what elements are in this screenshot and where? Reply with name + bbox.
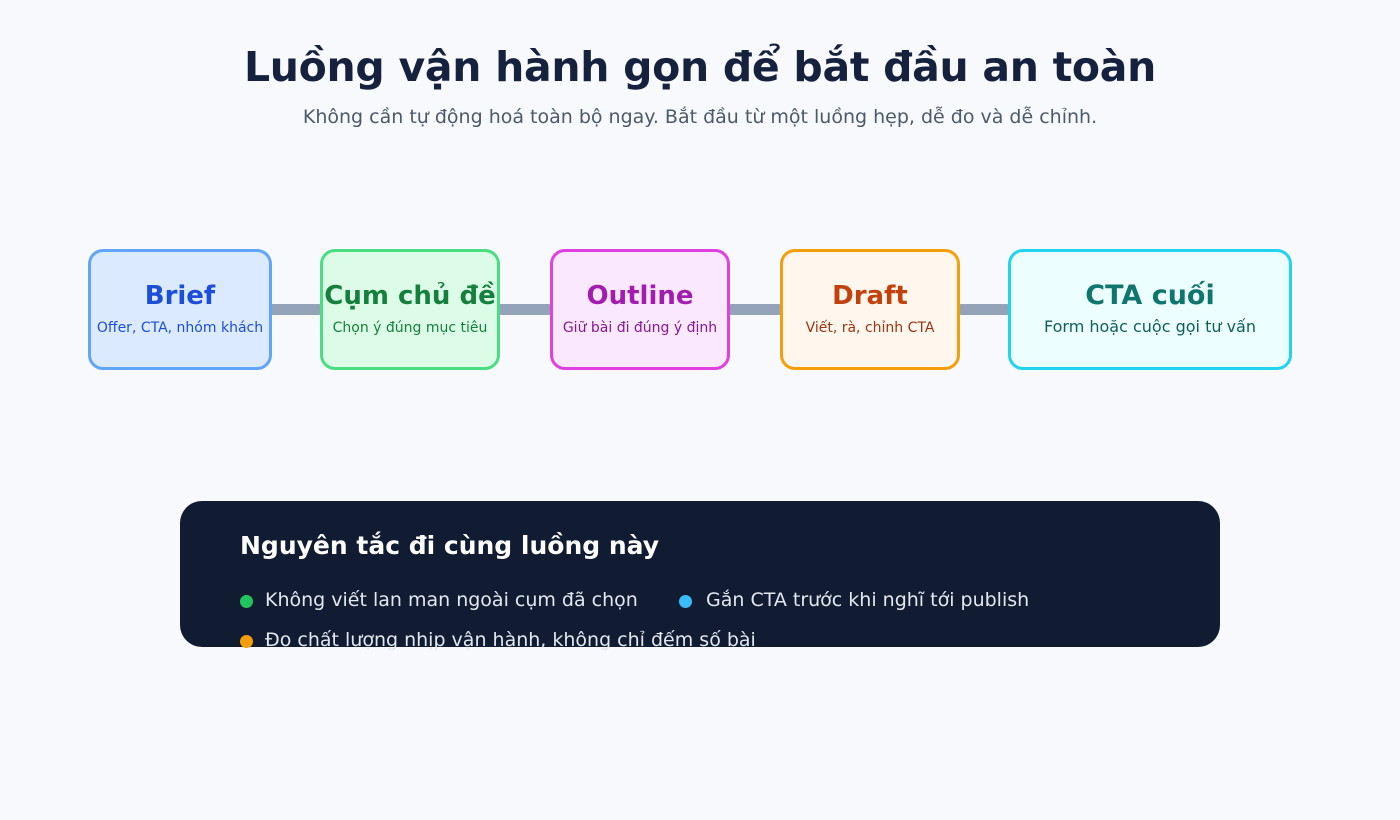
flow-connector <box>266 304 324 315</box>
page-subtitle: Không cần tự động hoá toàn bộ ngay. Bắt … <box>0 91 1400 130</box>
principle-text: Không viết lan man ngoài cụm đã chọn <box>265 589 638 613</box>
principles-list: Không viết lan man ngoài cụm đã chọn Gắn… <box>240 561 1160 661</box>
principles-title: Nguyên tắc đi cùng luồng này <box>240 531 1160 561</box>
flow-step-title: Brief <box>145 282 216 311</box>
bullet-dot-icon <box>679 595 692 608</box>
flow-connector <box>956 304 1012 315</box>
list-item: Không viết lan man ngoài cụm đã chọn <box>240 581 687 621</box>
flow-step-title: CTA cuối <box>1085 281 1214 311</box>
bullet-dot-icon <box>240 595 253 608</box>
flow-connector <box>726 304 784 315</box>
bullet-dot-icon <box>240 635 253 648</box>
principle-text: Gắn CTA trước khi nghĩ tới publish <box>706 589 1029 613</box>
flow-step-outline[interactable]: Outline Giữ bài đi đúng ý định <box>550 249 730 370</box>
flow-connector <box>496 304 554 315</box>
page-title: Luồng vận hành gọn để bắt đầu an toàn <box>0 44 1400 91</box>
list-item: Gắn CTA trước khi nghĩ tới publish <box>687 581 1134 621</box>
page-header: Luồng vận hành gọn để bắt đầu an toàn Kh… <box>0 44 1400 130</box>
flow-step-cum-chu-de[interactable]: Cụm chủ đề Chọn ý đúng mục tiêu <box>320 249 500 370</box>
flow-step-draft[interactable]: Draft Viết, rà, chỉnh CTA <box>780 249 960 370</box>
flow-step-subtitle: Viết, rà, chỉnh CTA <box>806 311 935 337</box>
flow-step-brief[interactable]: Brief Offer, CTA, nhóm khách <box>88 249 272 370</box>
flow-diagram: Brief Offer, CTA, nhóm khách Cụm chủ đề … <box>0 249 1400 374</box>
principles-panel: Nguyên tắc đi cùng luồng này Không viết … <box>180 501 1220 647</box>
flow-step-title: Draft <box>832 282 908 311</box>
principle-text: Đo chất lượng nhịp vận hành, không chỉ đ… <box>265 629 756 653</box>
flow-step-subtitle: Offer, CTA, nhóm khách <box>97 311 263 337</box>
flow-step-subtitle: Giữ bài đi đúng ý định <box>563 311 717 337</box>
flow-step-cta-cuoi[interactable]: CTA cuối Form hoặc cuộc gọi tư vấn <box>1008 249 1292 370</box>
flow-step-subtitle: Chọn ý đúng mục tiêu <box>333 311 488 337</box>
list-item: Đo chất lượng nhịp vận hành, không chỉ đ… <box>240 621 687 661</box>
flow-step-title: Outline <box>586 282 693 311</box>
flow-step-title: Cụm chủ đề <box>324 282 495 311</box>
flow-step-subtitle: Form hoặc cuộc gọi tư vấn <box>1044 311 1256 336</box>
